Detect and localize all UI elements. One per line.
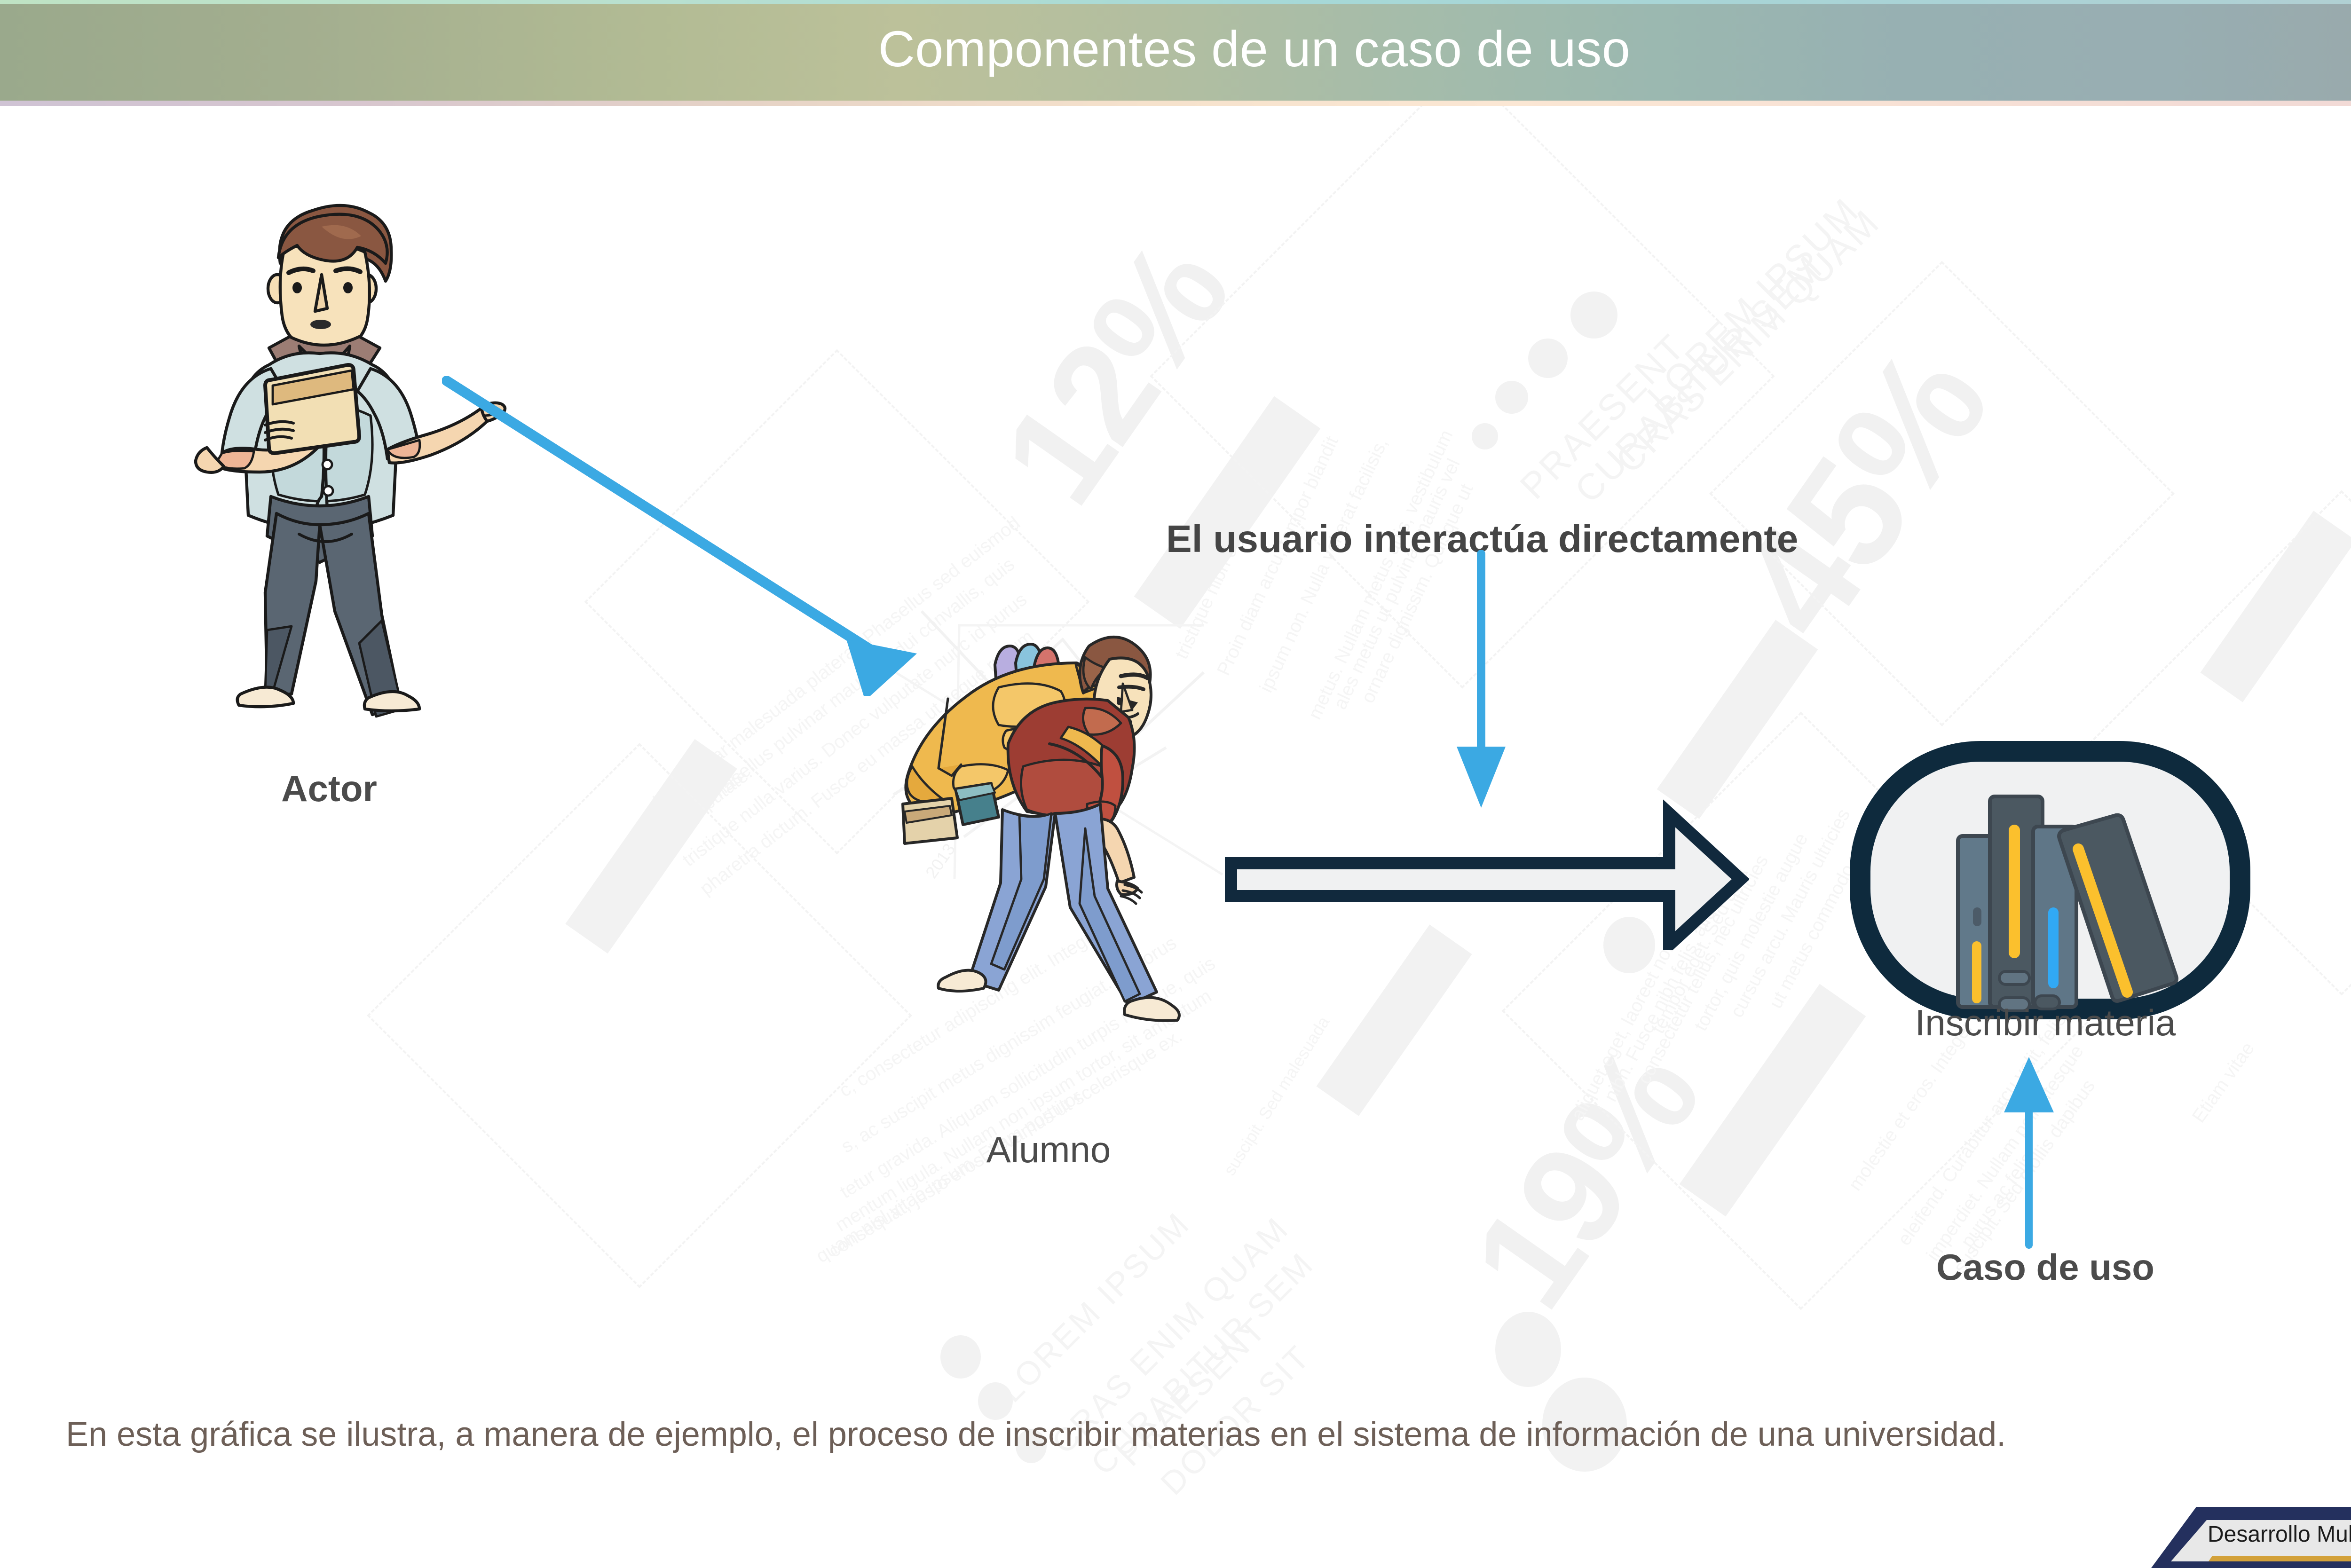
interaction-note-arrow [1434,550,1528,813]
use-case-node[interactable] [1843,738,2257,1020]
slide-canvas: 12% 45% 19% LOREM IPSUM CRAS ENIM QUAM C… [0,0,2351,1568]
page-title: Componentes de un caso de uso [0,0,2351,101]
alumno-label: Alumno [884,1128,1213,1171]
diagram-stage: Actor [0,0,2351,1568]
interaction-flow-arrow [1223,795,1749,950]
header-bottom-accent-strip [0,101,2351,106]
actor-label: Actor [188,767,470,810]
use-case-callout-arrow [1989,1053,2069,1251]
alumno-illustration[interactable] [884,625,1204,1128]
slide-header: Componentes de un caso de uso [0,0,2351,101]
footer-label: Desarrollo Multimedia UMNG [2208,1521,2351,1547]
slide-caption: En esta gráfica se ilustra, a manera de … [66,1415,2006,1454]
use-case-label: Inscribir materia [1810,1001,2280,1044]
use-case-callout-label: Caso de uso [1834,1246,2257,1289]
